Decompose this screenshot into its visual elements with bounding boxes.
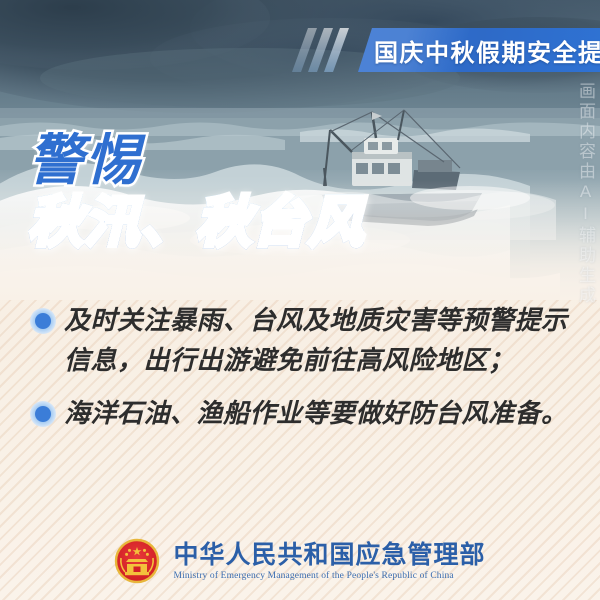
bullet-dot-icon: [30, 308, 56, 334]
china-national-emblem-icon: [114, 538, 160, 584]
footer: 中华人民共和国应急管理部 Ministry of Emergency Manag…: [0, 522, 600, 600]
storm-scene-illustration: [0, 0, 600, 300]
storm-sea-photo: [0, 0, 600, 300]
footer-texts: 中华人民共和国应急管理部 Ministry of Emergency Manag…: [173, 541, 485, 581]
list-item-text: 海洋石油、渔船作业等要做好防台风准备。: [64, 393, 570, 433]
ministry-name-en: Ministry of Emergency Management of the …: [173, 571, 485, 581]
safety-tip-poster: 画面内容由AI辅助生成 国庆中秋假期安全提示 警惕 秋汛、秋台风 及时关注暴雨、…: [0, 0, 600, 600]
tips-list: 及时关注暴雨、台风及地质灾害等预警提示信息，出行出游避免前往高风险地区； 海洋石…: [30, 300, 570, 445]
list-item: 及时关注暴雨、台风及地质灾害等预警提示信息，出行出游避免前往高风险地区；: [30, 300, 570, 381]
list-item: 海洋石油、渔船作业等要做好防台风准备。: [30, 393, 570, 433]
list-item-text: 及时关注暴雨、台风及地质灾害等预警提示信息，出行出游避免前往高风险地区；: [64, 300, 570, 381]
ministry-name-cn: 中华人民共和国应急管理部: [173, 541, 485, 569]
bullet-dot-icon: [30, 401, 56, 427]
